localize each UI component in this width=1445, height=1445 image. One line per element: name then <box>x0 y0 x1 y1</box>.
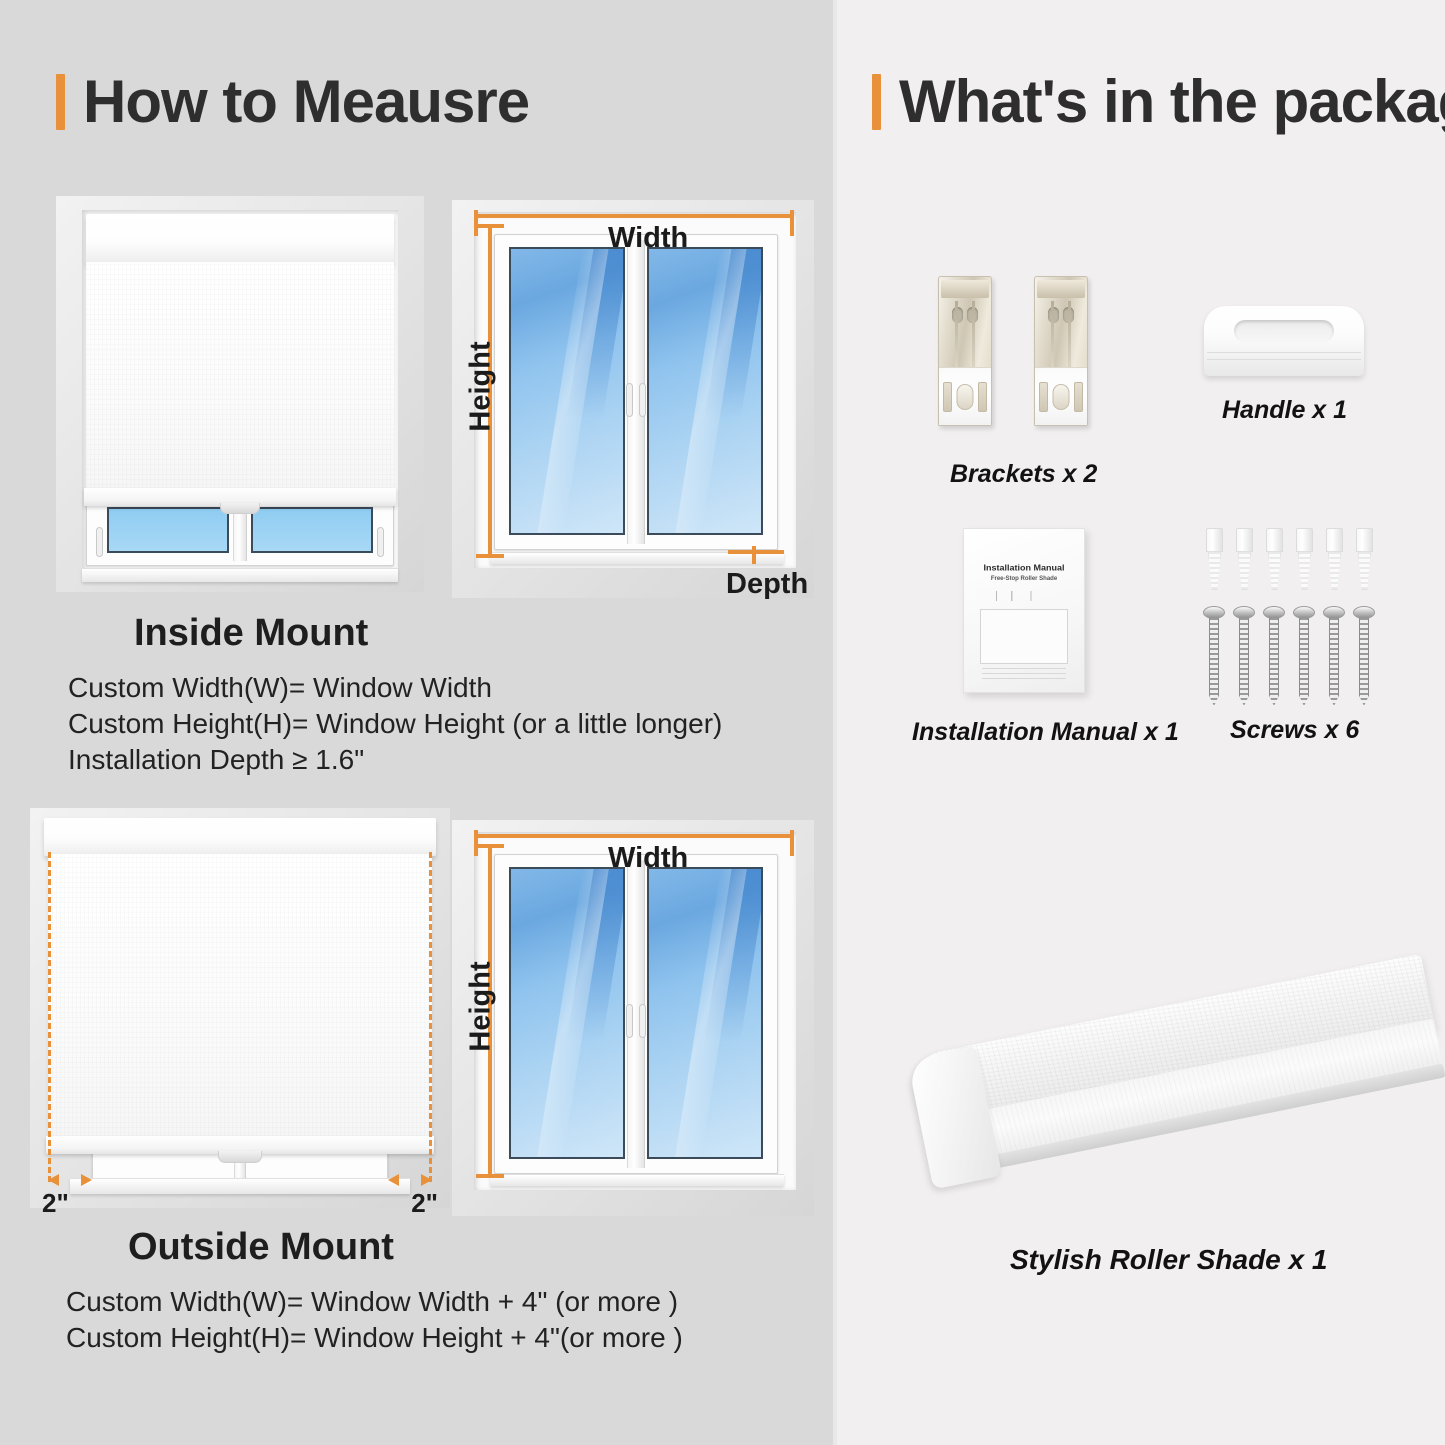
screw-shaft <box>1209 618 1219 706</box>
height-cap-bottom <box>476 1174 504 1178</box>
screw-icon <box>1326 606 1342 706</box>
window-sill <box>82 568 398 582</box>
overhang-label-right: 2" <box>411 1188 438 1219</box>
package-heading: What's in the package <box>872 72 1445 132</box>
overhang-arrow-left <box>48 1174 92 1186</box>
width-dimension-line <box>474 214 794 218</box>
wall-anchor-icon <box>1356 528 1373 590</box>
manual-cover-footer-lines <box>982 668 1066 682</box>
inside-mount-line-1: Custom Width(W)= Window Width <box>68 672 492 704</box>
window-glass-right <box>647 867 763 1159</box>
bracket-top-flange <box>941 280 989 298</box>
window-sash <box>494 234 778 550</box>
screw-head <box>1263 606 1285 619</box>
manual-cover-subtitle: Free-Stop Roller Shade <box>964 576 1084 582</box>
bracket-groove <box>972 301 975 373</box>
roller-shade-label: Stylish Roller Shade x 1 <box>1010 1244 1327 1276</box>
inside-mount-dimension-diagram: Width Height Depth <box>452 200 814 598</box>
screw-head <box>1293 606 1315 619</box>
shade-valance <box>86 214 394 264</box>
bracket-oval-hole <box>957 384 974 410</box>
window-glass-left <box>509 247 625 535</box>
screw-icon <box>1356 606 1372 706</box>
bracket-icon <box>938 276 992 426</box>
inside-mount-shade-illustration <box>56 196 424 592</box>
anchor-head <box>1236 528 1253 552</box>
screw-head <box>1323 606 1345 619</box>
outside-mount-line-1: Custom Width(W)= Window Width + 4" (or m… <box>66 1286 678 1318</box>
width-cap-right <box>790 830 794 856</box>
screws-label: Screws x 6 <box>1230 716 1359 745</box>
screw-icon <box>1206 606 1222 706</box>
window-handle-left <box>96 527 103 557</box>
overhang-guide-right <box>429 852 432 1182</box>
manual-cover-scribble <box>992 591 1056 601</box>
how-to-measure-heading: How to Meausre <box>56 72 529 132</box>
width-cap-left <box>474 210 478 236</box>
window-handle-left <box>626 383 633 417</box>
height-cap-top <box>476 224 504 228</box>
height-label: Height <box>465 952 498 1062</box>
screw-shaft <box>1239 618 1249 706</box>
bracket-base <box>1035 367 1087 425</box>
height-cap-bottom <box>476 554 504 558</box>
manual-label: Installation Manual x 1 <box>912 718 1179 747</box>
window-glass-right <box>251 507 373 553</box>
screw-icon <box>1296 606 1312 706</box>
width-label: Width <box>608 842 688 875</box>
outside-mount-line-2: Custom Height(H)= Window Height + 4"(or … <box>66 1322 683 1354</box>
overhang-guide-left <box>48 852 51 1182</box>
anchor-head <box>1206 528 1223 552</box>
bracket-slot <box>1074 382 1083 412</box>
panel-divider <box>833 0 837 1445</box>
anchor-body <box>1298 551 1311 590</box>
handle-art <box>1204 306 1364 376</box>
screw-head <box>1353 606 1375 619</box>
width-cap-left <box>474 830 478 856</box>
window-sill <box>70 1178 410 1194</box>
outside-mount-shade-illustration: 2" 2" <box>30 808 450 1208</box>
bracket-icon <box>1034 276 1088 426</box>
screw-shaft <box>1329 618 1339 706</box>
roller-shade-art <box>900 870 1445 1210</box>
anchor-head <box>1296 528 1313 552</box>
shade-fabric <box>48 854 432 1138</box>
window-glass-left <box>107 507 229 553</box>
width-label: Width <box>608 222 688 255</box>
window-handle-right <box>377 527 384 557</box>
screw-icon <box>1236 606 1252 706</box>
wall-anchor-icon <box>1266 528 1283 590</box>
depth-dimension-line <box>728 550 784 554</box>
handle-label: Handle x 1 <box>1222 396 1347 425</box>
shade-pull-handle[interactable] <box>218 1151 262 1163</box>
width-dimension-line <box>474 834 794 838</box>
anchor-head <box>1326 528 1343 552</box>
window-sill <box>490 1174 784 1186</box>
window-handle-left <box>626 1004 633 1038</box>
brackets-label: Brackets x 2 <box>950 460 1097 489</box>
handle-ridge <box>1207 359 1361 360</box>
bracket-base <box>939 367 991 425</box>
handle-slot <box>1234 320 1334 342</box>
bracket-groove <box>1068 301 1071 373</box>
bracket-groove <box>955 301 958 373</box>
anchor-body <box>1328 551 1341 590</box>
window-sash <box>494 854 778 1174</box>
wall-anchor-icon <box>1326 528 1343 590</box>
accent-bar-icon <box>56 74 65 130</box>
width-cap-right <box>790 210 794 236</box>
window-handle-right <box>639 383 646 417</box>
screw-shaft <box>1299 618 1309 706</box>
wall-anchor-icon <box>1296 528 1313 590</box>
screw-head <box>1233 606 1255 619</box>
manual-cover-title: Installation Manual <box>964 564 1084 573</box>
window-glass-right <box>647 247 763 535</box>
package-heading-text: What's in the package <box>899 72 1445 132</box>
handle-ridge <box>1207 352 1361 353</box>
wall-anchor-icon <box>1236 528 1253 590</box>
anchor-head <box>1356 528 1373 552</box>
screw-shaft <box>1359 618 1369 706</box>
screw-head <box>1203 606 1225 619</box>
infographic-root: How to Meausre <box>0 0 1445 1445</box>
wall-anchor-icon <box>1206 528 1223 590</box>
window-handle-right <box>639 1004 646 1038</box>
screws-art <box>1204 528 1380 700</box>
height-label: Height <box>465 332 498 442</box>
outside-mount-dimension-diagram: Width Height <box>452 820 814 1216</box>
anchor-body <box>1358 551 1371 590</box>
overhang-arrow-right <box>388 1174 432 1186</box>
overhang-label-left: 2" <box>42 1188 69 1219</box>
bracket-top-flange <box>1037 280 1085 298</box>
shade-fabric <box>86 262 394 490</box>
bracket-groove <box>1051 301 1054 373</box>
brackets-art <box>938 276 1114 436</box>
manual-cover-diagram <box>980 609 1068 664</box>
anchor-body <box>1238 551 1251 590</box>
anchor-head <box>1266 528 1283 552</box>
screw-icon <box>1266 606 1282 706</box>
window-glass-left <box>509 867 625 1159</box>
shade-valance <box>44 818 436 856</box>
depth-label: Depth <box>726 568 808 601</box>
how-to-measure-heading-text: How to Meausre <box>83 72 529 132</box>
inside-mount-line-3: Installation Depth ≥ 1.6" <box>68 744 364 776</box>
anchor-body <box>1208 551 1221 590</box>
bracket-slot <box>943 382 952 412</box>
bracket-slot <box>978 382 987 412</box>
outside-mount-title: Outside Mount <box>128 1226 394 1269</box>
anchor-body <box>1268 551 1281 590</box>
shade-pull-handle[interactable] <box>220 503 260 514</box>
depth-cap <box>752 546 756 564</box>
roller-shade-body <box>911 954 1445 1187</box>
bracket-oval-hole <box>1053 384 1070 410</box>
manual-art: Installation Manual Free-Stop Roller Sha… <box>963 528 1085 693</box>
inside-mount-title: Inside Mount <box>134 612 368 655</box>
bracket-slot <box>1039 382 1048 412</box>
inside-mount-line-2: Custom Height(H)= Window Height (or a li… <box>68 708 722 740</box>
accent-bar-icon <box>872 74 881 130</box>
screw-shaft <box>1269 618 1279 706</box>
height-cap-top <box>476 844 504 848</box>
